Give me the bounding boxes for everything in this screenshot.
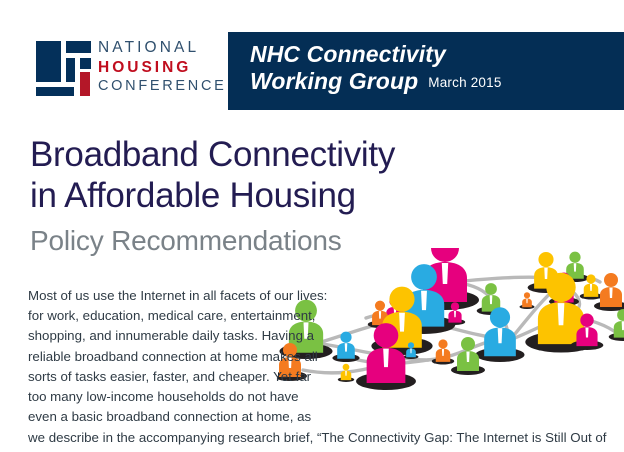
logo-shape-top-bar xyxy=(66,41,91,53)
person-head xyxy=(451,302,459,310)
logo-shape-bottom-bar xyxy=(36,87,74,96)
person-head xyxy=(604,273,618,287)
person-tie xyxy=(590,284,592,291)
network-person-node xyxy=(609,309,624,341)
person-tie xyxy=(345,371,347,376)
intro-paragraph-clipped-line: reach for many, even as it becomes more … xyxy=(28,448,608,452)
logo-shape-stem xyxy=(66,58,75,82)
page-title-block: Broadband Connectivity in Affordable Hou… xyxy=(30,134,500,258)
logo-shape-square xyxy=(80,58,91,69)
person-tie xyxy=(466,352,469,363)
person-head xyxy=(485,283,497,295)
social-network-illustration xyxy=(278,248,624,413)
logo-shape-red-bar xyxy=(80,72,90,96)
network-person-node xyxy=(594,273,624,311)
banner-title-line2-text: Working Group xyxy=(250,68,418,94)
wordmark-line-national: NATIONAL xyxy=(98,40,227,56)
person-head xyxy=(461,337,475,351)
person-tie xyxy=(442,349,444,356)
person-tie xyxy=(410,349,411,354)
nhc-logo: NATIONAL HOUSING CONFERENCE xyxy=(36,38,227,96)
page-header: NATIONAL HOUSING CONFERENCE NHC Connecti… xyxy=(0,0,624,122)
intro-paragraph-wide-line: we describe in the accompanying research… xyxy=(28,428,608,448)
person-tie xyxy=(558,303,565,325)
person-tie xyxy=(421,291,427,310)
person-tie xyxy=(490,295,493,304)
person-tie xyxy=(345,343,348,351)
person-head xyxy=(546,273,575,302)
person-head xyxy=(617,309,624,321)
person-head xyxy=(438,339,447,348)
wordmark-line-housing: HOUSING xyxy=(98,60,227,76)
banner-title-line2: Working GroupMarch 2015 xyxy=(250,68,620,96)
page-title-line2: in Affordable Housing xyxy=(30,175,500,216)
person-tie xyxy=(379,311,381,319)
nhc-logo-mark-icon xyxy=(36,38,86,96)
network-nodes xyxy=(278,248,624,390)
person-head xyxy=(408,342,414,348)
person-head xyxy=(524,292,530,298)
network-svg xyxy=(278,248,624,413)
person-head xyxy=(411,264,437,290)
person-head xyxy=(389,287,414,312)
person-tie xyxy=(574,263,577,271)
person-tie xyxy=(526,299,527,304)
person-head xyxy=(375,301,385,311)
network-person-node xyxy=(520,292,535,309)
person-head xyxy=(340,332,351,343)
banner-date: March 2015 xyxy=(428,75,501,90)
person-tie xyxy=(498,328,503,343)
person-head xyxy=(374,323,399,348)
intro-paragraph: Most of us use the Internet in all facet… xyxy=(28,286,328,427)
person-head xyxy=(586,274,595,283)
banner-text-group: NHC Connectivity Working GroupMarch 2015 xyxy=(250,41,620,96)
intro-paragraph-column: Most of us use the Internet in all facet… xyxy=(28,286,328,427)
nhc-wordmark: NATIONAL HOUSING CONFERENCE xyxy=(98,40,227,94)
page-title-line1: Broadband Connectivity xyxy=(30,134,500,175)
person-tie xyxy=(585,327,588,337)
banner-title-line1: NHC Connectivity xyxy=(250,41,620,68)
person-tie xyxy=(399,313,405,332)
person-head xyxy=(538,252,553,267)
person-tie xyxy=(383,349,389,367)
wordmark-line-conference: CONFERENCE xyxy=(98,79,227,94)
network-person-node xyxy=(432,339,454,364)
logo-shape-large-block xyxy=(36,41,61,82)
person-head xyxy=(490,307,510,327)
working-group-banner: NHC Connectivity Working GroupMarch 2015 xyxy=(228,32,624,110)
person-head xyxy=(343,364,350,371)
person-head xyxy=(580,314,593,327)
person-head xyxy=(431,248,459,262)
person-tie xyxy=(454,311,456,317)
person-tie xyxy=(609,288,612,299)
person-tie xyxy=(544,268,547,279)
person-head xyxy=(569,252,580,263)
person-tie xyxy=(442,263,448,284)
